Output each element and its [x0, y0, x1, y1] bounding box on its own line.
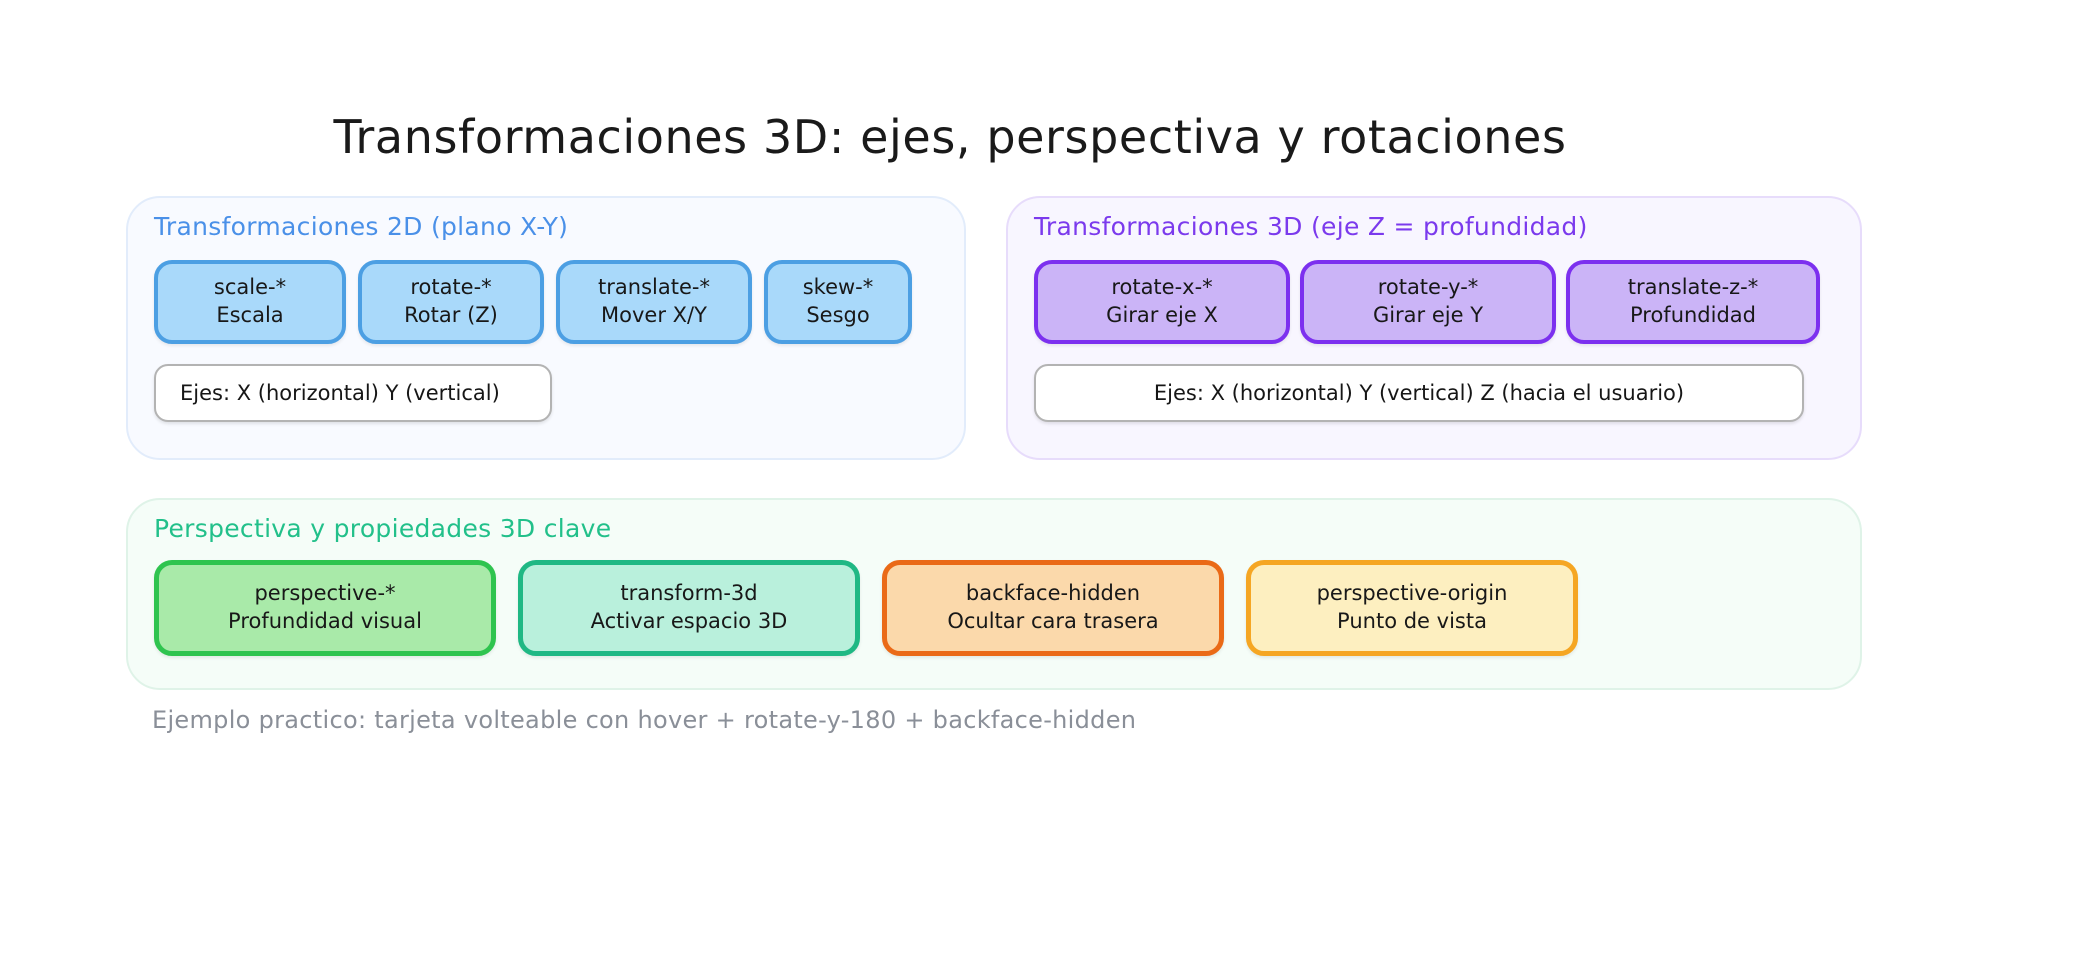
panel-2d-card-row: scale-* Escala rotate-* Rotar (Z) transl…	[154, 260, 912, 344]
card-code: perspective-origin	[1317, 580, 1508, 608]
axis-note-3d-text: Ejes: X (horizontal) Y (vertical) Z (hac…	[1154, 381, 1684, 405]
card-desc: Ocultar cara trasera	[947, 608, 1158, 636]
footer-example-note: Ejemplo practico: tarjeta volteable con …	[152, 706, 1136, 734]
card-code: skew-*	[803, 274, 874, 302]
card-translate[interactable]: translate-* Mover X/Y	[556, 260, 752, 344]
card-transform-3d[interactable]: transform-3d Activar espacio 3D	[518, 560, 860, 656]
card-desc: Sesgo	[806, 302, 869, 330]
axis-note-2d: Ejes: X (horizontal) Y (vertical)	[154, 364, 552, 422]
card-translate-z[interactable]: translate-z-* Profundidad	[1566, 260, 1820, 344]
card-skew[interactable]: skew-* Sesgo	[764, 260, 912, 344]
card-desc: Escala	[216, 302, 283, 330]
card-scale[interactable]: scale-* Escala	[154, 260, 346, 344]
card-code: translate-z-*	[1628, 274, 1759, 302]
axis-note-3d: Ejes: X (horizontal) Y (vertical) Z (hac…	[1034, 364, 1804, 422]
card-code: backface-hidden	[966, 580, 1140, 608]
panel-3d-card-row: rotate-x-* Girar eje X rotate-y-* Girar …	[1034, 260, 1820, 344]
card-code: perspective-*	[254, 580, 395, 608]
diagram-canvas: Transformaciones 3D: ejes, perspectiva y…	[0, 0, 2080, 956]
card-rotate-y[interactable]: rotate-y-* Girar eje Y	[1300, 260, 1556, 344]
panel-2d-heading: Transformaciones 2D (plano X-Y)	[154, 212, 568, 241]
card-desc: Girar eje X	[1106, 302, 1218, 330]
panel-perspectiva-card-row: perspective-* Profundidad visual transfo…	[154, 560, 1578, 656]
card-desc: Profundidad visual	[228, 608, 422, 636]
card-code: scale-*	[214, 274, 286, 302]
card-code: rotate-*	[410, 274, 491, 302]
panel-perspectiva-heading: Perspectiva y propiedades 3D clave	[154, 514, 611, 543]
panel-transformaciones-2d: Transformaciones 2D (plano X-Y) scale-* …	[126, 196, 966, 460]
card-perspective[interactable]: perspective-* Profundidad visual	[154, 560, 496, 656]
card-backface-hidden[interactable]: backface-hidden Ocultar cara trasera	[882, 560, 1224, 656]
card-desc: Punto de vista	[1337, 608, 1487, 636]
panel-3d-heading: Transformaciones 3D (eje Z = profundidad…	[1034, 212, 1588, 241]
card-desc: Activar espacio 3D	[591, 608, 788, 636]
card-code: translate-*	[598, 274, 710, 302]
card-desc: Mover X/Y	[601, 302, 707, 330]
axis-note-2d-text: Ejes: X (horizontal) Y (vertical)	[180, 381, 500, 405]
page-title: Transformaciones 3D: ejes, perspectiva y…	[0, 110, 1900, 164]
card-desc: Girar eje Y	[1373, 302, 1483, 330]
card-code: transform-3d	[620, 580, 757, 608]
panel-transformaciones-3d: Transformaciones 3D (eje Z = profundidad…	[1006, 196, 1862, 460]
card-rotate-x[interactable]: rotate-x-* Girar eje X	[1034, 260, 1290, 344]
panel-perspectiva-3d: Perspectiva y propiedades 3D clave persp…	[126, 498, 1862, 690]
card-desc: Profundidad	[1630, 302, 1756, 330]
card-rotate[interactable]: rotate-* Rotar (Z)	[358, 260, 544, 344]
card-code: rotate-y-*	[1378, 274, 1479, 302]
card-desc: Rotar (Z)	[404, 302, 498, 330]
card-perspective-origin[interactable]: perspective-origin Punto de vista	[1246, 560, 1578, 656]
card-code: rotate-x-*	[1111, 274, 1212, 302]
